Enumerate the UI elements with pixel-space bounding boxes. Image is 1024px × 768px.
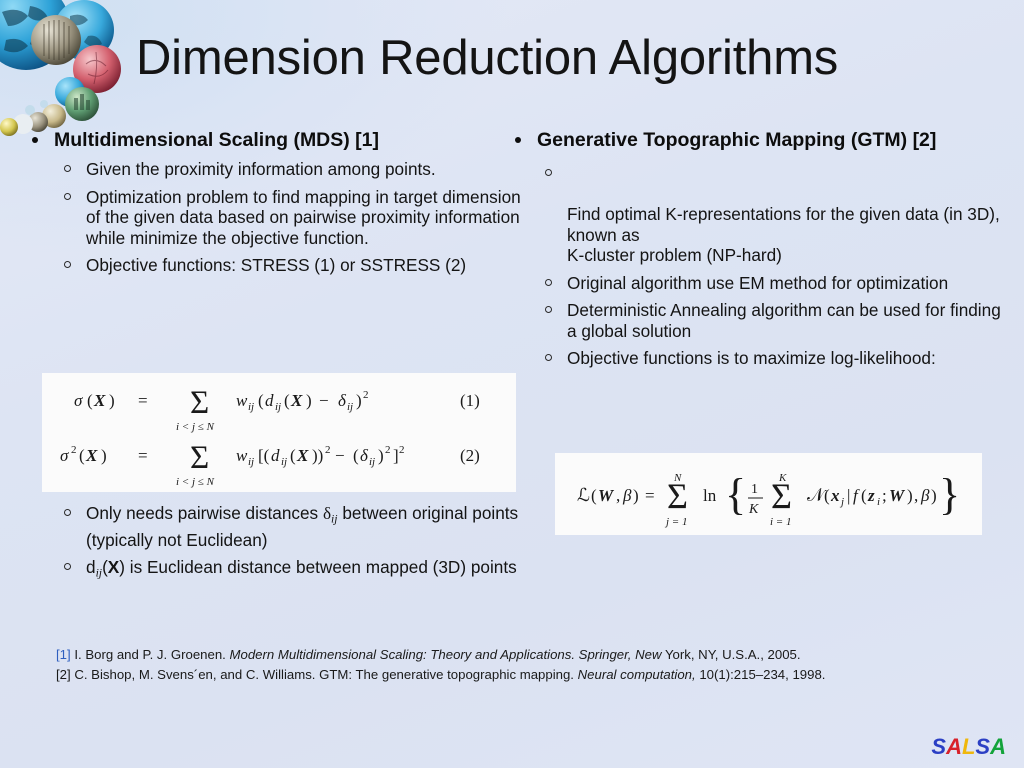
- left-content-column-lower: Only needs pairwise distances δij betwee…: [22, 503, 522, 591]
- reference-text-plain: C. Bishop, M. Svens´en, and C. Williams.…: [71, 667, 578, 682]
- svg-text:(: (: [87, 391, 93, 410]
- mds-heading-label: Multidimensional Scaling (MDS) [1]: [54, 129, 379, 151]
- svg-text:W: W: [598, 486, 615, 505]
- reference-text-plain: I. Borg and P. J. Groenen.: [71, 647, 230, 662]
- svg-text:w: w: [236, 391, 248, 410]
- reference-text-italic: Modern Multidimensional Scaling: Theory …: [230, 647, 662, 662]
- svg-text:i < j ≤ N: i < j ≤ N: [176, 421, 215, 433]
- salsa-letter-2: A: [946, 734, 962, 759]
- salsa-letter-1: S: [931, 734, 946, 759]
- svg-text:=: =: [645, 486, 655, 505]
- svg-text:(1): (1): [460, 391, 480, 410]
- list-item: dij(X) is Euclidean distance between map…: [22, 557, 522, 584]
- svg-text:X: X: [290, 391, 303, 410]
- svg-text:): ): [356, 391, 362, 410]
- svg-text:z: z: [867, 486, 875, 505]
- reference-text-tail: 10(1):215–234, 1998.: [696, 667, 826, 682]
- svg-text:(: (: [258, 391, 264, 410]
- svg-text:−: −: [319, 391, 329, 410]
- list-item: Objective functions: STRESS (1) or SSTRE…: [22, 255, 522, 276]
- list-item-label: Optimization problem to find mapping in …: [86, 187, 521, 248]
- slide-canvas: Dimension Reduction Algorithms Multidime…: [0, 0, 1024, 768]
- gtm-equation-image: ℒ ( W , β ) = Σ N j = 1 ln { 1 K Σ K i =…: [555, 453, 982, 535]
- gtm-heading-label: Generative Topographic Mapping (GTM) [2]: [537, 129, 936, 151]
- reference-item: [1] I. Borg and P. J. Groenen. Modern Mu…: [56, 645, 986, 665]
- svg-text:): ): [306, 391, 312, 410]
- bullet-dot-icon: [515, 137, 521, 143]
- svg-text:(: (: [290, 446, 296, 465]
- mds-heading: Multidimensional Scaling (MDS) [1]: [22, 128, 522, 153]
- list-item: Objective functions is to maximize log-l…: [505, 348, 1013, 369]
- bullet-circle-icon: [545, 169, 552, 176]
- references-block: [1] I. Borg and P. J. Groenen. Modern Mu…: [56, 645, 986, 685]
- svg-text:ij: ij: [275, 401, 281, 413]
- svg-text:1: 1: [751, 482, 758, 497]
- svg-text:ij: ij: [369, 456, 375, 468]
- list-item-label: Deterministic Annealing algorithm can be…: [567, 300, 1001, 341]
- bullet-circle-icon: [545, 279, 552, 286]
- reference-text-italic: Neural computation,: [578, 667, 696, 682]
- svg-text:}: }: [939, 470, 960, 519]
- svg-text:2: 2: [325, 444, 331, 456]
- list-item-label: Objective functions is to maximize log-l…: [567, 348, 936, 368]
- svg-text:δ: δ: [360, 446, 369, 465]
- list-item: Given the proximity information among po…: [22, 159, 522, 180]
- svg-text:β: β: [920, 486, 930, 505]
- reference-text-tail: York, NY, U.S.A., 2005.: [662, 647, 801, 662]
- svg-text:j = 1: j = 1: [664, 516, 687, 528]
- svg-text:2: 2: [385, 444, 391, 456]
- svg-text:(: (: [824, 486, 830, 505]
- list-item-label: Objective functions: STRESS (1) or SSTRE…: [86, 255, 466, 275]
- svg-text:ij: ij: [248, 401, 254, 413]
- svg-text:i: i: [877, 496, 880, 508]
- list-item-label: Find optimal K-representations for the g…: [567, 204, 1000, 265]
- svg-text:W: W: [889, 486, 906, 505]
- svg-text:(: (: [353, 446, 359, 465]
- svg-text:)): )): [312, 446, 323, 465]
- svg-text:): ): [378, 446, 384, 465]
- svg-text:(: (: [591, 486, 597, 505]
- svg-text:[(: [(: [258, 446, 270, 465]
- svg-text:ij: ij: [347, 401, 353, 413]
- svg-text:d: d: [265, 391, 274, 410]
- svg-text:x: x: [830, 486, 840, 505]
- svg-text:−: −: [335, 446, 345, 465]
- list-item: Find optimal K-representations for the g…: [505, 163, 1013, 266]
- right-content-column: Generative Topographic Mapping (GTM) [2]…: [505, 128, 1013, 376]
- svg-text:d: d: [271, 446, 280, 465]
- svg-text:=: =: [138, 446, 148, 465]
- svg-text:X: X: [85, 446, 98, 465]
- svg-text:β: β: [622, 486, 632, 505]
- bullet-dot-icon: [32, 137, 38, 143]
- list-item-label: dij(X) is Euclidean distance between map…: [86, 557, 517, 577]
- bullet-circle-icon: [545, 306, 552, 313]
- svg-text:ij: ij: [248, 456, 254, 468]
- svg-text:): ): [101, 446, 107, 465]
- bullet-circle-icon: [64, 563, 71, 570]
- salsa-letter-5: A: [990, 734, 1006, 759]
- svg-text:X: X: [296, 446, 309, 465]
- svg-text:,: ,: [616, 486, 620, 505]
- svg-text:K: K: [778, 472, 787, 484]
- svg-text:{: {: [725, 470, 746, 519]
- bullet-circle-icon: [64, 261, 71, 268]
- salsa-letter-3: L: [962, 734, 975, 759]
- bullet-circle-icon: [64, 509, 71, 516]
- svg-text:]: ]: [393, 446, 399, 465]
- mds-equation-image: σ ( X ) = Σ i < j ≤ N w ij ( d ij ( X ) …: [42, 373, 516, 492]
- list-item: Optimization problem to find mapping in …: [22, 187, 522, 249]
- svg-text:δ: δ: [338, 391, 347, 410]
- svg-text:ij: ij: [281, 456, 287, 468]
- svg-text:Σ: Σ: [190, 385, 209, 421]
- svg-text:N: N: [673, 472, 682, 484]
- svg-text:(: (: [284, 391, 290, 410]
- svg-text:,: ,: [914, 486, 918, 505]
- list-item-label: Original algorithm use EM method for opt…: [567, 273, 948, 293]
- gtm-heading: Generative Topographic Mapping (GTM) [2]: [505, 128, 1013, 153]
- salsa-logo: SALSA: [931, 734, 1006, 760]
- left-content-column: Multidimensional Scaling (MDS) [1] Given…: [22, 128, 522, 283]
- svg-text:Σ: Σ: [190, 440, 209, 476]
- svg-text:2: 2: [399, 444, 405, 456]
- list-item-label: Only needs pairwise distances δij betwee…: [86, 503, 518, 550]
- svg-text:σ: σ: [74, 391, 83, 410]
- list-item: Deterministic Annealing algorithm can be…: [505, 300, 1013, 341]
- svg-text:(2): (2): [460, 446, 480, 465]
- salsa-letter-4: S: [975, 734, 990, 759]
- svg-text:): ): [907, 486, 913, 505]
- svg-text:j: j: [839, 496, 844, 508]
- svg-text:;: ;: [882, 486, 887, 505]
- reference-marker: [2]: [56, 667, 71, 682]
- svg-text:2: 2: [71, 444, 77, 456]
- svg-text:w: w: [236, 446, 248, 465]
- svg-text:ℒ: ℒ: [577, 485, 590, 505]
- svg-text:K: K: [748, 502, 759, 517]
- svg-text:f: f: [853, 486, 860, 505]
- svg-text:=: =: [138, 391, 148, 410]
- svg-text:): ): [931, 486, 937, 505]
- svg-text:σ: σ: [60, 446, 69, 465]
- svg-text:(: (: [79, 446, 85, 465]
- svg-text:(: (: [861, 486, 867, 505]
- bullet-circle-icon: [64, 193, 71, 200]
- svg-text:i = 1: i = 1: [770, 516, 791, 528]
- svg-text:ln: ln: [703, 486, 717, 505]
- svg-text:X: X: [93, 391, 106, 410]
- svg-text:|: |: [847, 486, 850, 505]
- reference-item: [2] C. Bishop, M. Svens´en, and C. Willi…: [56, 665, 986, 685]
- svg-text:): ): [109, 391, 115, 410]
- reference-marker: [1]: [56, 647, 71, 662]
- list-item: Only needs pairwise distances δij betwee…: [22, 503, 522, 550]
- page-title: Dimension Reduction Algorithms: [136, 28, 936, 88]
- svg-text:2: 2: [363, 389, 369, 401]
- svg-text:i < j ≤ N: i < j ≤ N: [176, 476, 215, 488]
- list-item-label: Given the proximity information among po…: [86, 159, 436, 179]
- svg-text:): ): [633, 486, 639, 505]
- bullet-circle-icon: [545, 354, 552, 361]
- list-item: Original algorithm use EM method for opt…: [505, 273, 1013, 294]
- bullet-circle-icon: [64, 165, 71, 172]
